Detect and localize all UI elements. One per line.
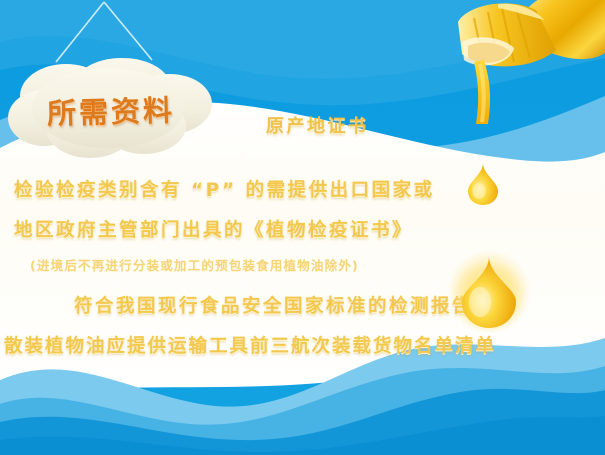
section-heading: 原产地证书 (266, 112, 369, 138)
requirement-note: (进境后不再进行分装或加工的预包装食用植物油除外) (30, 255, 359, 274)
requirement-line-1: 检验检疫类别含有 “P” 的需提供出口国家或 (14, 176, 435, 202)
poster-canvas: 所需资料 原产地证书 检验检疫类别含有 “P” 的需提供出口国家或 地区政府主管… (0, 0, 605, 455)
requirement-line-4: 符合我国现行食品安全国家标准的检测报告 (74, 292, 473, 318)
cloud-title-text: 所需资料 (3, 53, 220, 167)
requirement-line-5: 散装植物油应提供运输工具前三航次装载货物名单清单 (4, 332, 496, 358)
cloud-title-badge: 所需资料 (4, 56, 218, 164)
requirement-line-2: 地区政府主管部门出具的《植物检疫证书》 (14, 216, 413, 242)
